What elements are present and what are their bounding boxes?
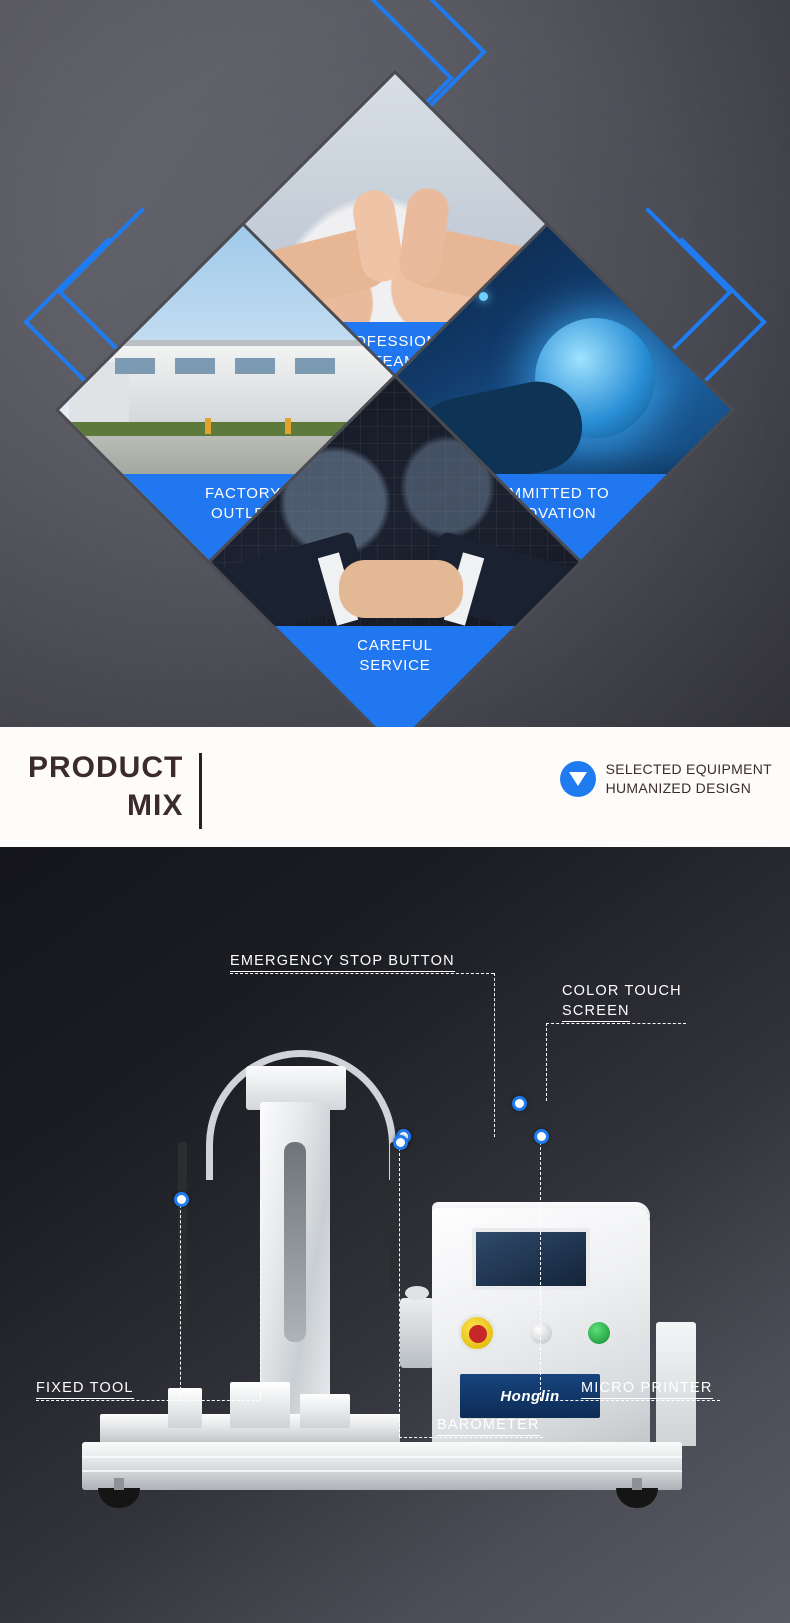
page-title: PRODUCT MIX xyxy=(28,749,202,829)
fixed-tool-fixture-a xyxy=(168,1388,202,1428)
brand-plate: Honglin xyxy=(460,1374,600,1418)
callout-micro-printer: MICRO PRINTER xyxy=(581,1380,713,1399)
green-start-button[interactable] xyxy=(588,1322,610,1344)
callout-emergency-stop-button: EMERGENCY STOP BUTTON xyxy=(230,953,455,972)
machine-base xyxy=(82,1442,682,1490)
leader-fixed-tool-h xyxy=(36,1400,260,1401)
hero-section: PROFESSIONAL TEAM FACTORY xyxy=(0,0,790,727)
leader-micro-printer-v xyxy=(540,1137,541,1400)
page-title-line-1: PRODUCT xyxy=(28,749,183,787)
hotspot-barometer[interactable] xyxy=(393,1135,408,1150)
tagline-line-1: SELECTED EQUIPMENT xyxy=(606,760,772,779)
title-divider xyxy=(199,753,202,829)
leader-color-touch-v xyxy=(546,1023,547,1101)
fixed-tool-fixture-c xyxy=(300,1394,350,1428)
leader-color-touch-h xyxy=(546,1023,686,1024)
leader-fixed-tool-v1 xyxy=(180,1200,181,1400)
leader-barometer-v xyxy=(399,1143,400,1437)
callout-color-touch-screen-line-1: COLOR TOUCH xyxy=(562,983,682,999)
product-mix-title-bar: PRODUCT MIX SELECTED EQUIPMENT HUMANIZED… xyxy=(0,727,790,847)
page-title-line-2: MIX xyxy=(28,787,183,825)
air-tube-right xyxy=(390,1142,399,1292)
callout-color-touch-screen-line-2: SCREEN xyxy=(562,1003,630,1022)
blue-circle-down-triangle-icon xyxy=(560,761,596,797)
leader-emergency-stop-h xyxy=(230,973,494,974)
machine-foot-right xyxy=(616,1488,658,1508)
leader-barometer-h xyxy=(399,1437,543,1438)
product-photo-section: Honglin Honglin EMERGENCY STOP BUTTON CO… xyxy=(0,847,790,1623)
white-push-button[interactable] xyxy=(530,1322,552,1344)
hotspot-fixed-tool[interactable] xyxy=(174,1192,189,1207)
dispensing-machine-illustration: Honglin xyxy=(60,1022,720,1522)
machine-foot-left xyxy=(98,1488,140,1508)
hotspot-color-touch-screen[interactable] xyxy=(512,1096,527,1111)
leader-fixed-tool-v2 xyxy=(260,1200,261,1400)
page-root: PROFESSIONAL TEAM FACTORY xyxy=(0,0,790,1623)
color-touch-screen-display[interactable] xyxy=(472,1228,590,1290)
hotspot-micro-printer[interactable] xyxy=(534,1129,549,1144)
z-axis-slot xyxy=(284,1142,306,1342)
emergency-stop-button-control[interactable] xyxy=(458,1314,496,1352)
callout-fixed-tool: FIXED TOOL xyxy=(36,1380,134,1399)
callout-barometer: BAROMETER xyxy=(437,1417,540,1436)
tagline-line-2: HUMANIZED DESIGN xyxy=(606,779,772,798)
caption-line-1: CAREFUL xyxy=(357,636,433,656)
tagline-block: SELECTED EQUIPMENT HUMANIZED DESIGN xyxy=(560,760,772,798)
barometer-regulator xyxy=(400,1298,434,1368)
leader-emergency-stop-v xyxy=(494,973,495,1137)
caption-line-2: SERVICE xyxy=(359,656,430,676)
leader-micro-printer-h xyxy=(540,1400,720,1401)
